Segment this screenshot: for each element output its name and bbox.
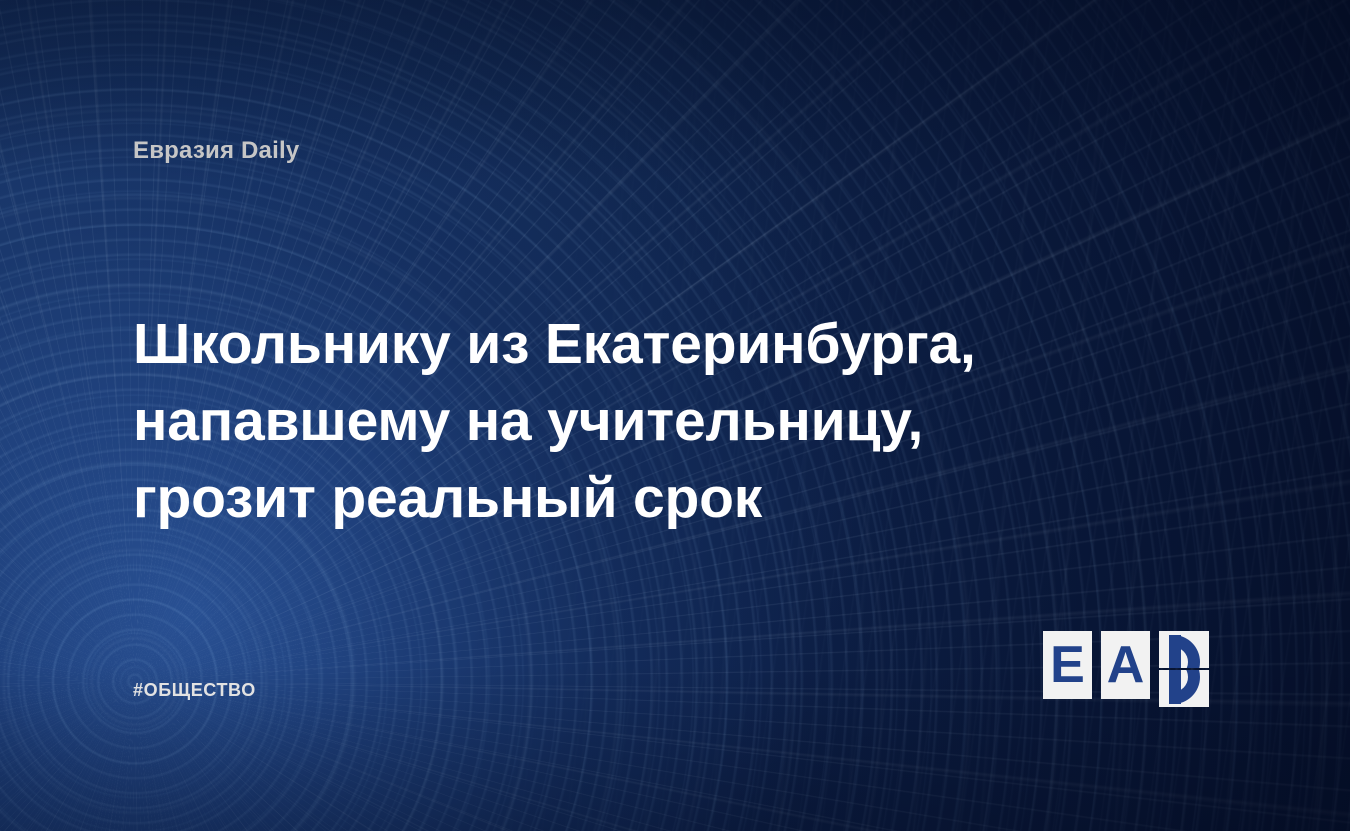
site-name: Евразия Daily [133,137,299,165]
news-share-card: Евразия Daily Школьнику из Екатеринбурга… [0,0,1350,831]
category-tag[interactable]: #ОБЩЕСТВО [133,680,256,701]
logo-letter-a-tile: A [1101,631,1150,699]
headline: Школьнику из Екатеринбурга, напавшему на… [133,306,1093,537]
logo-letter-e: E [1043,631,1092,699]
logo-d-bottom-stem [1169,670,1181,704]
logo-letter-a: A [1101,631,1150,699]
card-content: Евразия Daily Школьнику из Екатеринбурга… [0,0,1350,831]
logo-letter-d-top-half [1159,631,1216,668]
logo-letter-d-bottom-half [1159,670,1216,707]
logo-letter-d-tile [1159,631,1216,707]
logo-letter-e-tile: E [1043,631,1092,699]
logo-d-top-stem [1169,635,1181,668]
eadaily-logo[interactable]: E A [1043,631,1223,707]
